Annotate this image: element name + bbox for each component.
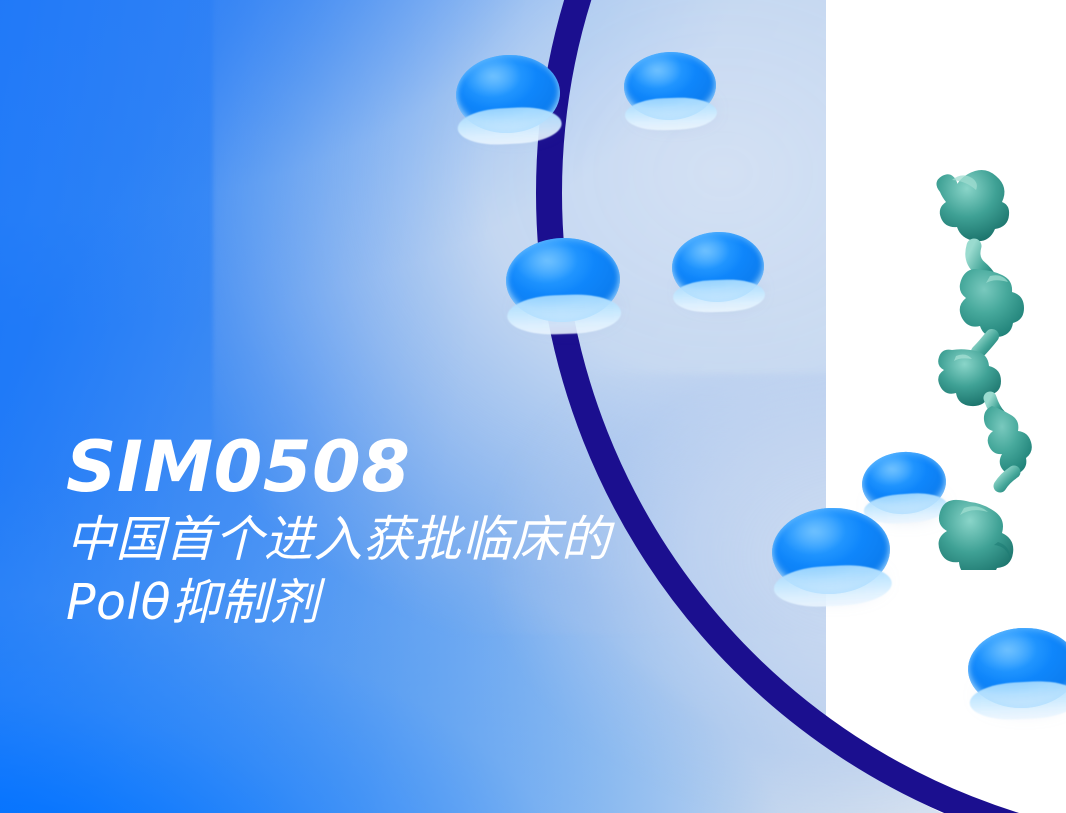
page-title: SIM0508 (66, 432, 826, 503)
headline-block: SIM0508 中国首个进入获批临床的 Polθ抑制剂 (66, 432, 826, 635)
page-subtitle-line-1: 中国首个进入获批临床的 (66, 509, 826, 572)
tablet-2 (623, 50, 717, 121)
poster-root: SIM0508 中国首个进入获批临床的 Polθ抑制剂 (0, 0, 1066, 813)
page-subtitle-line-2: Polθ抑制剂 (66, 572, 826, 635)
tablet-4 (671, 230, 765, 303)
polymerase-theta-protein-structure (886, 150, 1066, 570)
page-subtitle: 中国首个进入获批临床的 Polθ抑制剂 (66, 509, 826, 634)
